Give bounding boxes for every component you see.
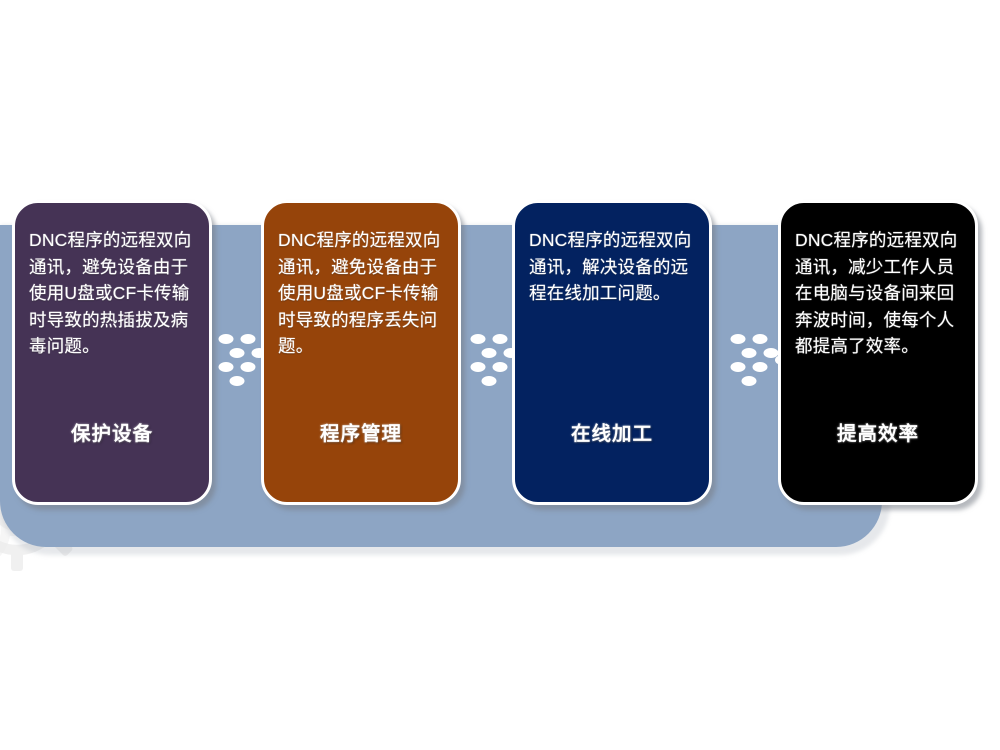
process-card-program-management[interactable]: DNC程序的远程双向通讯，避免设备由于使用U盘或CF卡传输时导致的程序丢失问题。… [261,200,461,505]
card-body-text: DNC程序的远程双向通讯，解决设备的远程在线加工问题。 [529,227,695,307]
card-title: 提高效率 [795,417,961,446]
process-diagram: DNC程序的远程双向通讯，避免设备由于使用U盘或CF卡传输时导致的热插拔及病毒问… [0,0,1000,750]
process-card-online-machining[interactable]: DNC程序的远程双向通讯，解决设备的远程在线加工问题。 在线加工 [512,200,712,505]
process-card-improve-efficiency[interactable]: DNC程序的远程双向通讯，减少工作人员在电脑与设备间来回奔波时间，使每个人都提高… [778,200,978,505]
card-title: 在线加工 [529,417,695,446]
card-body-text: DNC程序的远程双向通讯，避免设备由于使用U盘或CF卡传输时导致的热插拔及病毒问… [29,227,195,360]
card-title: 程序管理 [278,417,444,446]
card-body-text: DNC程序的远程双向通讯，减少工作人员在电脑与设备间来回奔波时间，使每个人都提高… [795,227,961,360]
process-card-protect-equipment[interactable]: DNC程序的远程双向通讯，避免设备由于使用U盘或CF卡传输时导致的热插拔及病毒问… [12,200,212,505]
card-title: 保护设备 [29,417,195,446]
card-body-text: DNC程序的远程双向通讯，避免设备由于使用U盘或CF卡传输时导致的程序丢失问题。 [278,227,444,360]
